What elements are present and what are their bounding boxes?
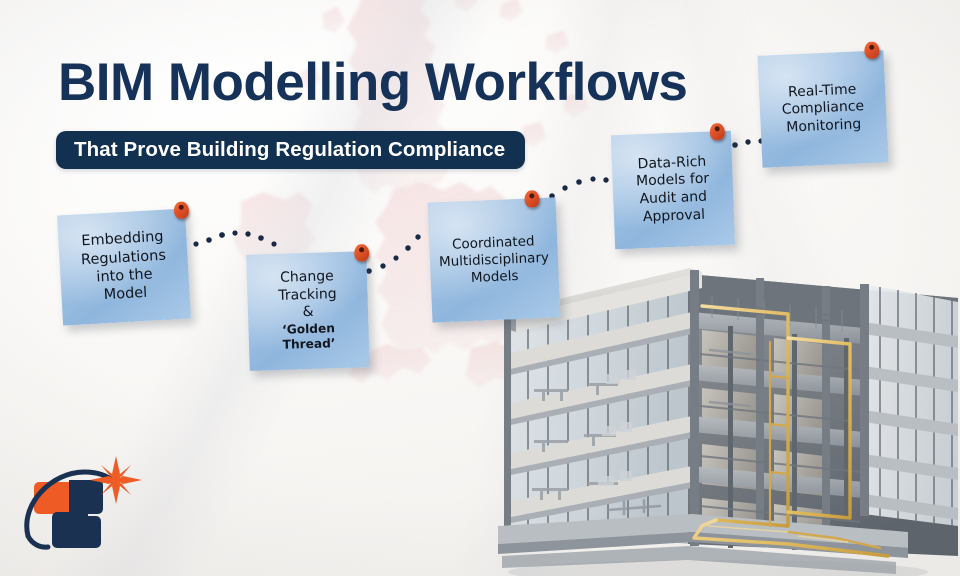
page-title: BIM Modelling Workflows [58,55,687,111]
sticky-note-text: Change Tracking & ‘Golden Thread’ [247,267,370,354]
infographic-canvas: BIM Modelling Workflows That Prove Build… [0,0,960,576]
push-pin-icon [524,190,540,208]
push-pin-icon [354,244,370,261]
push-pin-icon [709,123,725,141]
sticky-note-realtime-monitoring[interactable]: Real-Time Compliance Monitoring [758,50,889,168]
sticky-note-coordinated-models[interactable]: Coordinated Multidisciplinary Models [428,197,561,322]
company-logo[interactable] [22,452,146,568]
sticky-note-text: Real-Time Compliance Monitoring [759,80,887,139]
sticky-note-change-tracking[interactable]: Change Tracking & ‘Golden Thread’ [246,251,370,371]
push-pin-icon [173,201,189,219]
sticky-note-text: Data-Rich Models for Audit and Approval [612,152,735,227]
subtitle-text: That Prove Building Regulation Complianc… [74,138,505,162]
sticky-note-data-rich-models[interactable]: Data-Rich Models for Audit and Approval [611,131,735,250]
sticky-note-text: Embedding Regulations into the Model [58,227,190,307]
subtitle-banner: That Prove Building Regulation Complianc… [56,131,525,169]
sticky-note-embedding-regulations[interactable]: Embedding Regulations into the Model [57,209,191,326]
sticky-note-text: Coordinated Multidisciplinary Models [429,232,559,288]
push-pin-icon [864,41,880,59]
